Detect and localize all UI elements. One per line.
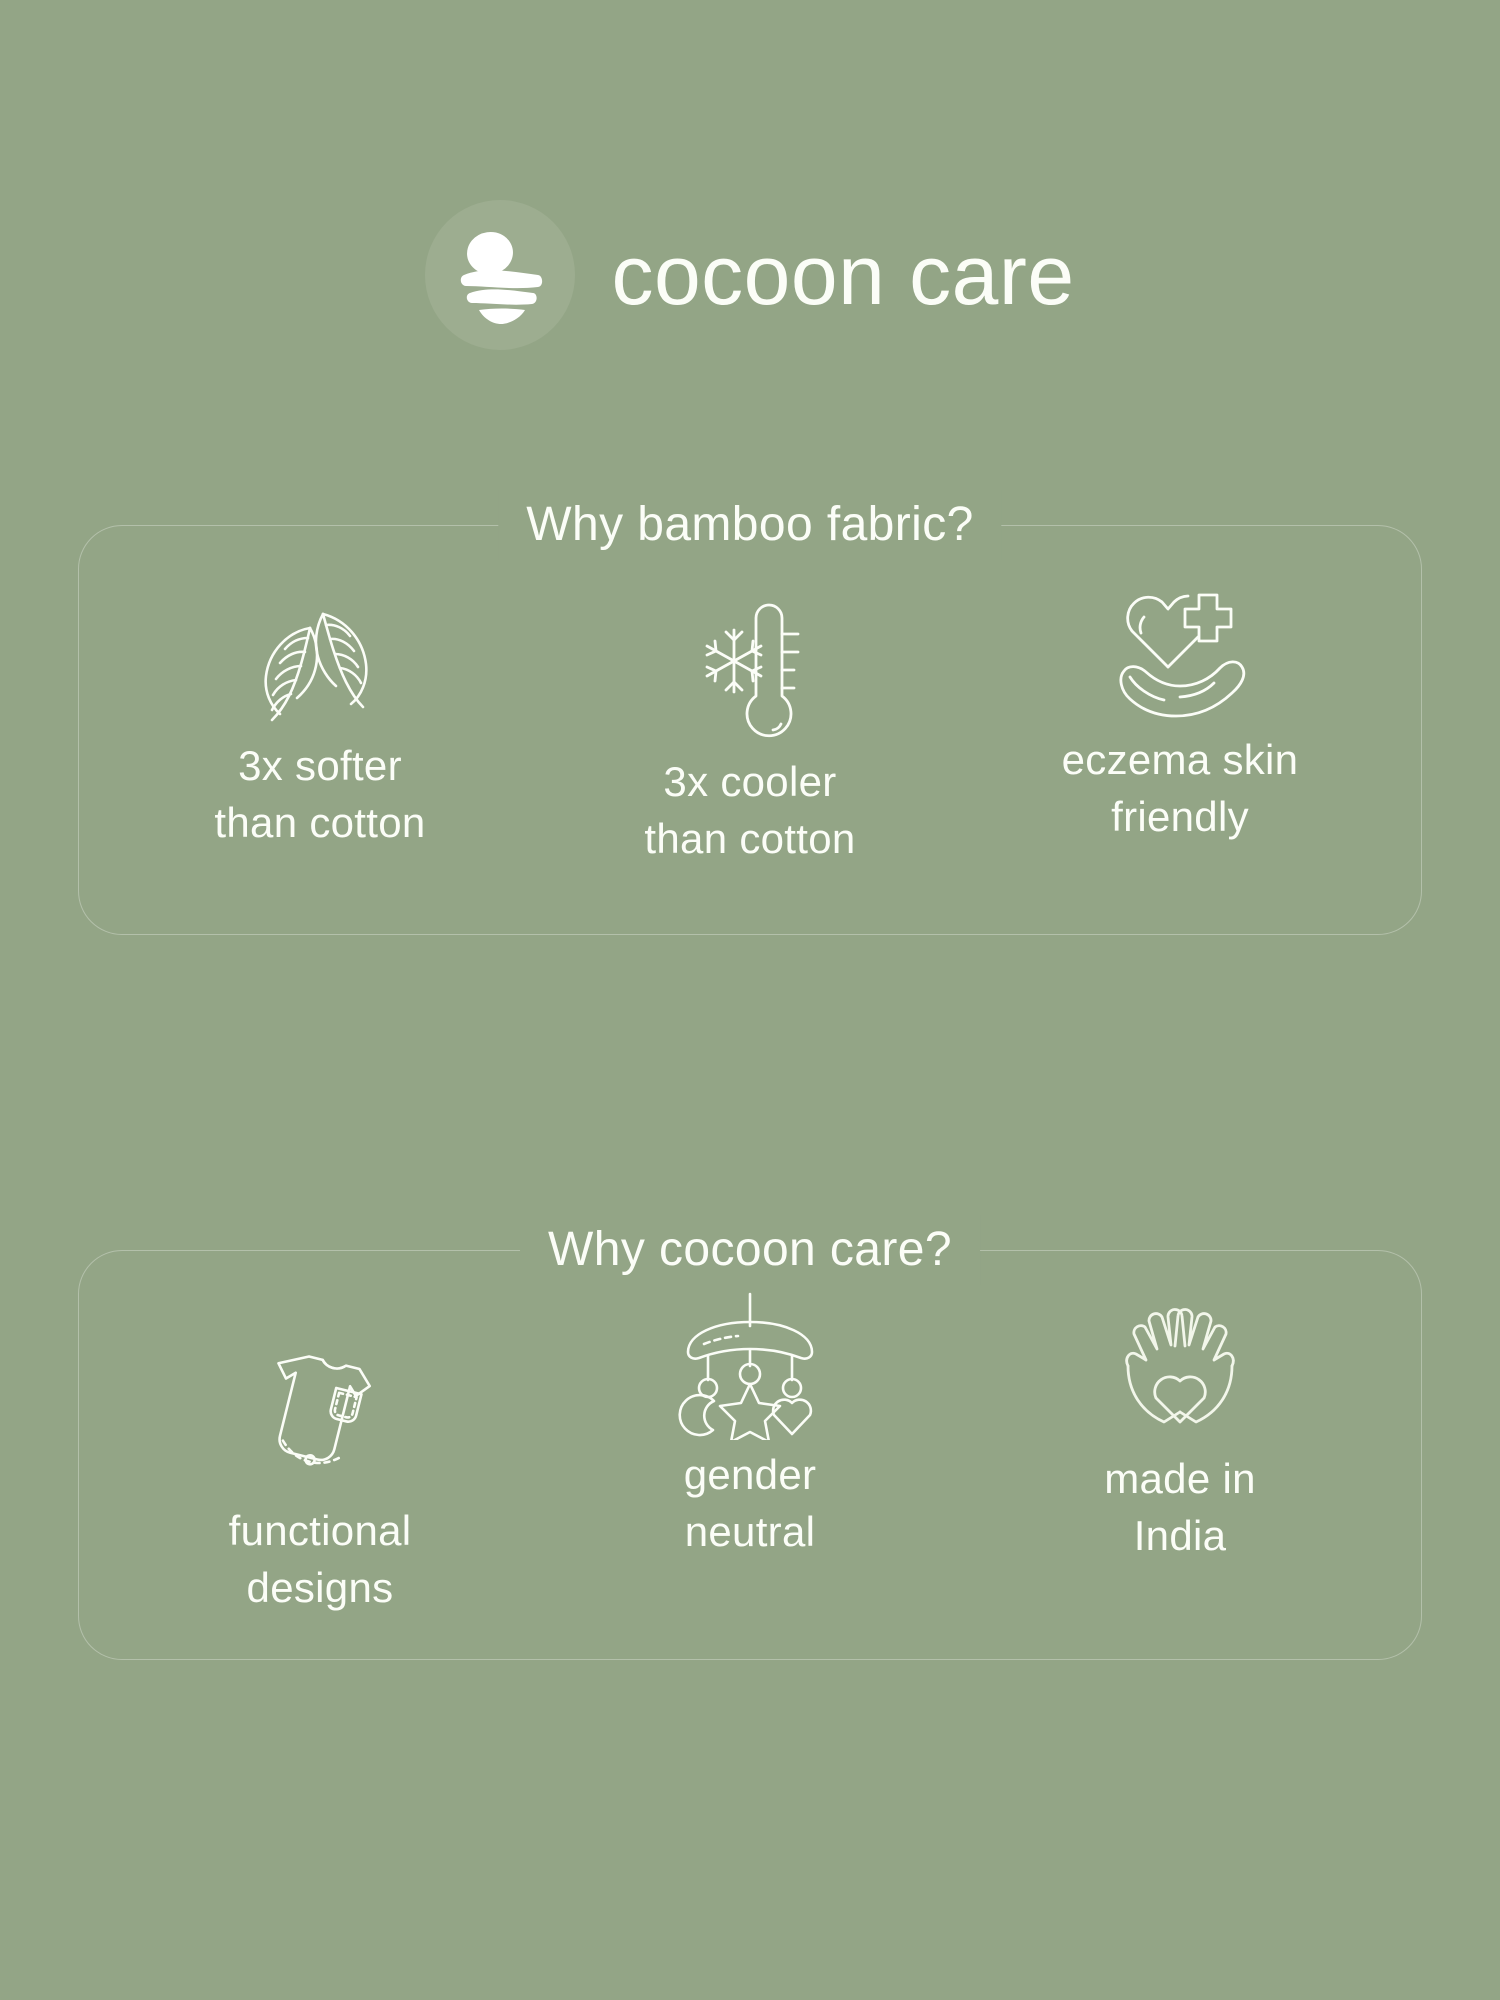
swaddled-baby-logo-icon — [425, 200, 575, 350]
feathers-icon — [247, 580, 393, 730]
feature-eczema-skin-friendly: eczema skin friendly — [965, 574, 1395, 845]
feature-label: 3x softer than cotton — [214, 738, 425, 851]
card-why-bamboo-fabric: Why bamboo fabric? — [78, 525, 1422, 935]
feature-label: functional designs — [229, 1503, 412, 1616]
baby-onesie-icon — [250, 1345, 390, 1495]
heart-cross-hand-icon — [1106, 574, 1254, 724]
feature-label: made in India — [1104, 1451, 1256, 1564]
promo-page: cocoon care Why bamboo fabric? — [0, 0, 1500, 2000]
feature-made-in-india: made in India — [965, 1293, 1395, 1564]
thermometer-snowflake-icon — [686, 596, 814, 746]
brand-header: cocoon care — [0, 200, 1500, 350]
card-why-cocoon-care: Why cocoon care? — [78, 1250, 1422, 1660]
baby-mobile-icon — [674, 1289, 826, 1439]
feature-gender-neutral: gender neutral — [535, 1289, 965, 1560]
feature-3x-softer: 3x softer than cotton — [105, 580, 535, 851]
feature-label: 3x cooler than cotton — [644, 754, 855, 867]
feature-label: eczema skin friendly — [1062, 732, 1299, 845]
feature-row-cocoon: functional designs — [79, 1251, 1421, 1659]
brand-wordmark: cocoon care — [611, 233, 1074, 317]
hands-heart-icon — [1104, 1293, 1256, 1443]
feature-row-fabric: 3x softer than cotton — [79, 526, 1421, 934]
feature-label: gender neutral — [684, 1447, 817, 1560]
feature-functional-designs: functional designs — [105, 1345, 535, 1616]
feature-3x-cooler: 3x cooler than cotton — [535, 596, 965, 867]
